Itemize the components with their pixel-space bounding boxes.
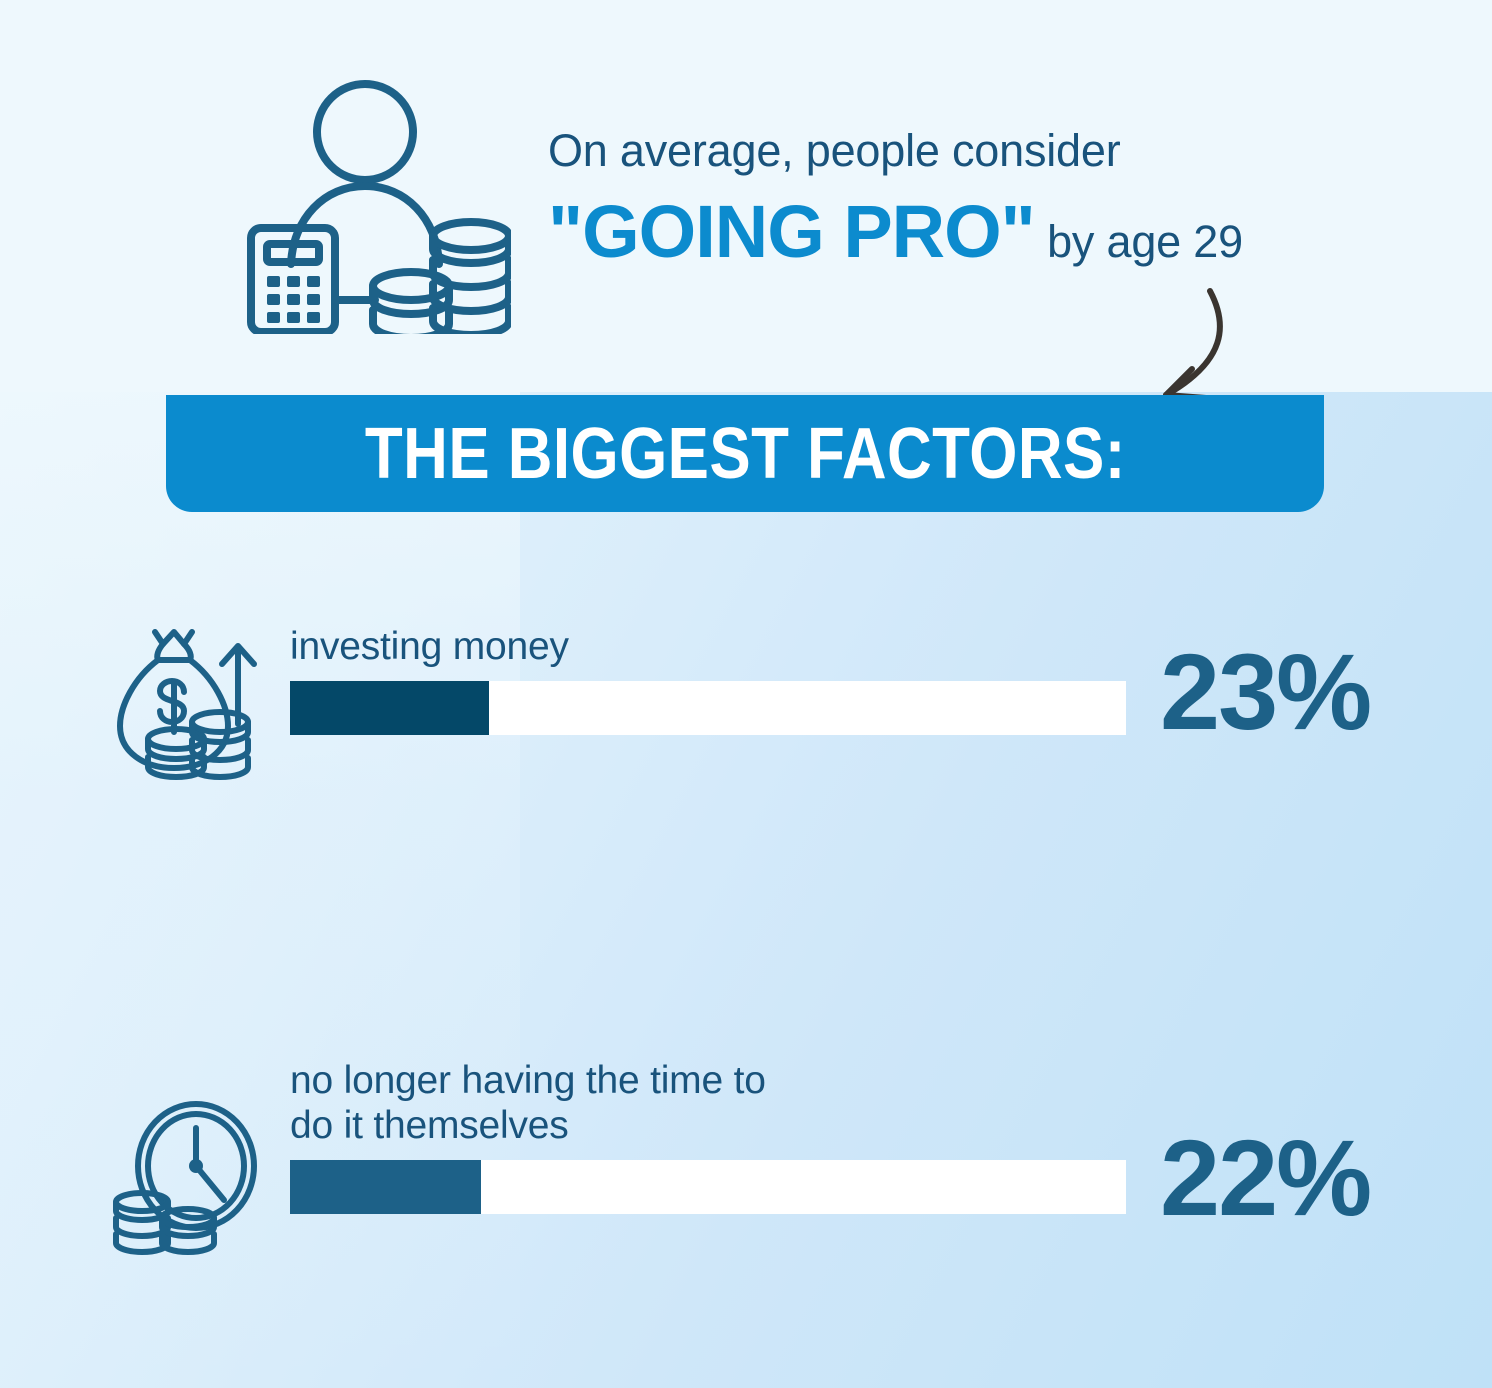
biggest-factors-banner: THE BIGGEST FACTORS: xyxy=(166,395,1324,512)
headline-line-2: "GOING PRO" by age 29 xyxy=(548,195,1338,269)
banner-title: THE BIGGEST FACTORS: xyxy=(365,418,1126,490)
headline-suffix: by age 29 xyxy=(1035,216,1243,267)
headline-line-1: On average, people consider xyxy=(548,128,1338,173)
factor-row: investing money 23% xyxy=(0,596,1492,826)
person-calculator-coins-icon xyxy=(243,78,511,334)
bar-fill xyxy=(290,681,489,735)
factor-label: investing money xyxy=(290,624,1126,669)
money-bag-growth-icon xyxy=(108,620,268,780)
factors-list: investing money 23% xyxy=(0,596,1492,1286)
headline: On average, people consider "GOING PRO" … xyxy=(548,128,1338,269)
factor-row: and getting married 21% xyxy=(0,1056,1492,1286)
curved-down-arrow-icon xyxy=(1130,283,1270,413)
headline-emphasis: "GOING PRO" xyxy=(548,190,1035,273)
infographic-canvas: On average, people consider "GOING PRO" … xyxy=(0,0,1492,1388)
factor-body: investing money xyxy=(290,624,1126,735)
bar-track xyxy=(290,681,1126,735)
factor-row: no longer having the time to do it thems… xyxy=(0,826,1492,1056)
factor-percent: 23% xyxy=(1160,638,1370,746)
